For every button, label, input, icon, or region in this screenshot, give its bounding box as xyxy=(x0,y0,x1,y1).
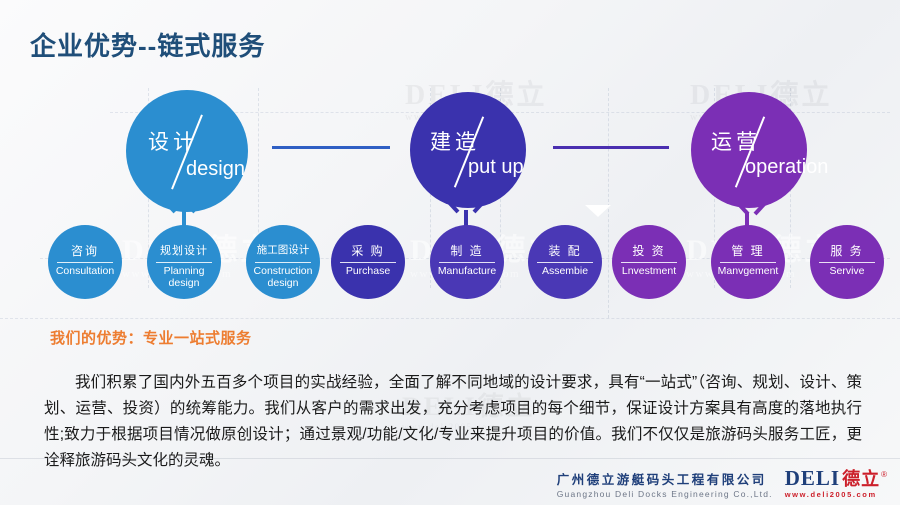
sub-label-cn: 制 造 xyxy=(430,242,504,259)
sub-label-en: Manvgement xyxy=(713,265,783,277)
page-title: 企业优势--链式服务 xyxy=(30,26,265,63)
logo-url: www.deli2005.com xyxy=(785,490,886,499)
sub-label-cn: 规划设计 xyxy=(147,242,221,258)
company-name-block: 广州德立游艇码头工程有限公司 Guangzhou Deli Docks Engi… xyxy=(557,469,773,499)
sub-divider xyxy=(537,262,593,263)
down-triangle-marker xyxy=(585,205,611,217)
sub-label-en: Consultation xyxy=(50,265,120,277)
slide-canvas: 企业优势--链式服务 DELI德立 www.deli2005.com DELI德… xyxy=(0,0,900,505)
stage-label-en: design xyxy=(186,158,245,181)
sub-circle-planning-design[interactable]: 规划设计 Planning design xyxy=(147,225,221,299)
sub-circle-purchase[interactable]: 采 购 Purchase xyxy=(331,225,405,299)
logo-word-cn: 德立 xyxy=(842,465,880,491)
sub-label-cn: 采 购 xyxy=(331,242,405,259)
stage-label-en: operation xyxy=(745,156,828,179)
stage-circle-operation[interactable]: 运营 operation xyxy=(691,92,807,208)
sub-label-cn: 施工图设计 xyxy=(246,242,320,257)
sub-label-en: Assembie xyxy=(530,265,600,277)
sub-label-cn: 管 理 xyxy=(711,242,785,259)
sub-label-en: Planning design xyxy=(149,265,219,289)
company-name-en: Guangzhou Deli Docks Engineering Co.,Ltd… xyxy=(557,489,773,499)
sub-label-en: Construction design xyxy=(248,265,318,289)
sub-divider xyxy=(340,262,396,263)
sub-label-en: Servive xyxy=(812,265,882,277)
stage-link-design-build xyxy=(272,146,390,149)
sub-divider xyxy=(439,262,495,263)
logo-word: DELI xyxy=(785,466,840,491)
sub-circle-construction-design[interactable]: 施工图设计 Construction design xyxy=(246,225,320,299)
sub-divider xyxy=(621,262,677,263)
guide-line-horizontal xyxy=(0,318,900,319)
logo-wordmark-row: DELI 德立 ® xyxy=(785,465,886,491)
sub-label-cn: 装 配 xyxy=(528,242,602,259)
stage-label-en: put up xyxy=(468,156,524,179)
sub-label-en: Purchase xyxy=(333,265,403,277)
sub-circle-investment[interactable]: 投 资 Lnvestment xyxy=(612,225,686,299)
sub-circle-manufacture[interactable]: 制 造 Manufacture xyxy=(430,225,504,299)
sub-circle-service[interactable]: 服 务 Servive xyxy=(810,225,884,299)
sub-divider xyxy=(57,262,113,263)
sub-label-cn: 咨询 xyxy=(48,242,122,259)
footer: 广州德立游艇码头工程有限公司 Guangzhou Deli Docks Engi… xyxy=(557,465,886,499)
sub-divider xyxy=(720,262,776,263)
sub-divider xyxy=(156,262,212,263)
sub-divider xyxy=(819,262,875,263)
sub-label-cn: 投 资 xyxy=(612,242,686,259)
stage-circle-build[interactable]: 建造 put up xyxy=(410,92,526,208)
sub-circle-assemble[interactable]: 装 配 Assembie xyxy=(528,225,602,299)
sub-label-en: Manufacture xyxy=(432,265,502,277)
sub-label-en: Lnvestment xyxy=(614,265,684,277)
stage-circle-design[interactable]: 设计 design xyxy=(126,90,248,212)
sub-circle-management[interactable]: 管 理 Manvgement xyxy=(711,225,785,299)
sub-circle-consultation[interactable]: 咨询 Consultation xyxy=(48,225,122,299)
company-name-cn: 广州德立游艇码头工程有限公司 xyxy=(557,469,773,488)
sub-label-cn: 服 务 xyxy=(810,242,884,259)
chain-service-diagram: 设计 design 咨询 Consultation 规划设计 Planning … xyxy=(0,70,900,310)
stage-link-build-operate xyxy=(553,146,669,149)
deli-logo: DELI 德立 ® www.deli2005.com xyxy=(785,465,886,499)
registered-mark-icon: ® xyxy=(881,470,887,479)
advantage-subheading: 我们的优势：专业一站式服务 xyxy=(50,327,252,348)
sub-divider xyxy=(255,262,311,263)
footer-divider xyxy=(0,458,900,459)
